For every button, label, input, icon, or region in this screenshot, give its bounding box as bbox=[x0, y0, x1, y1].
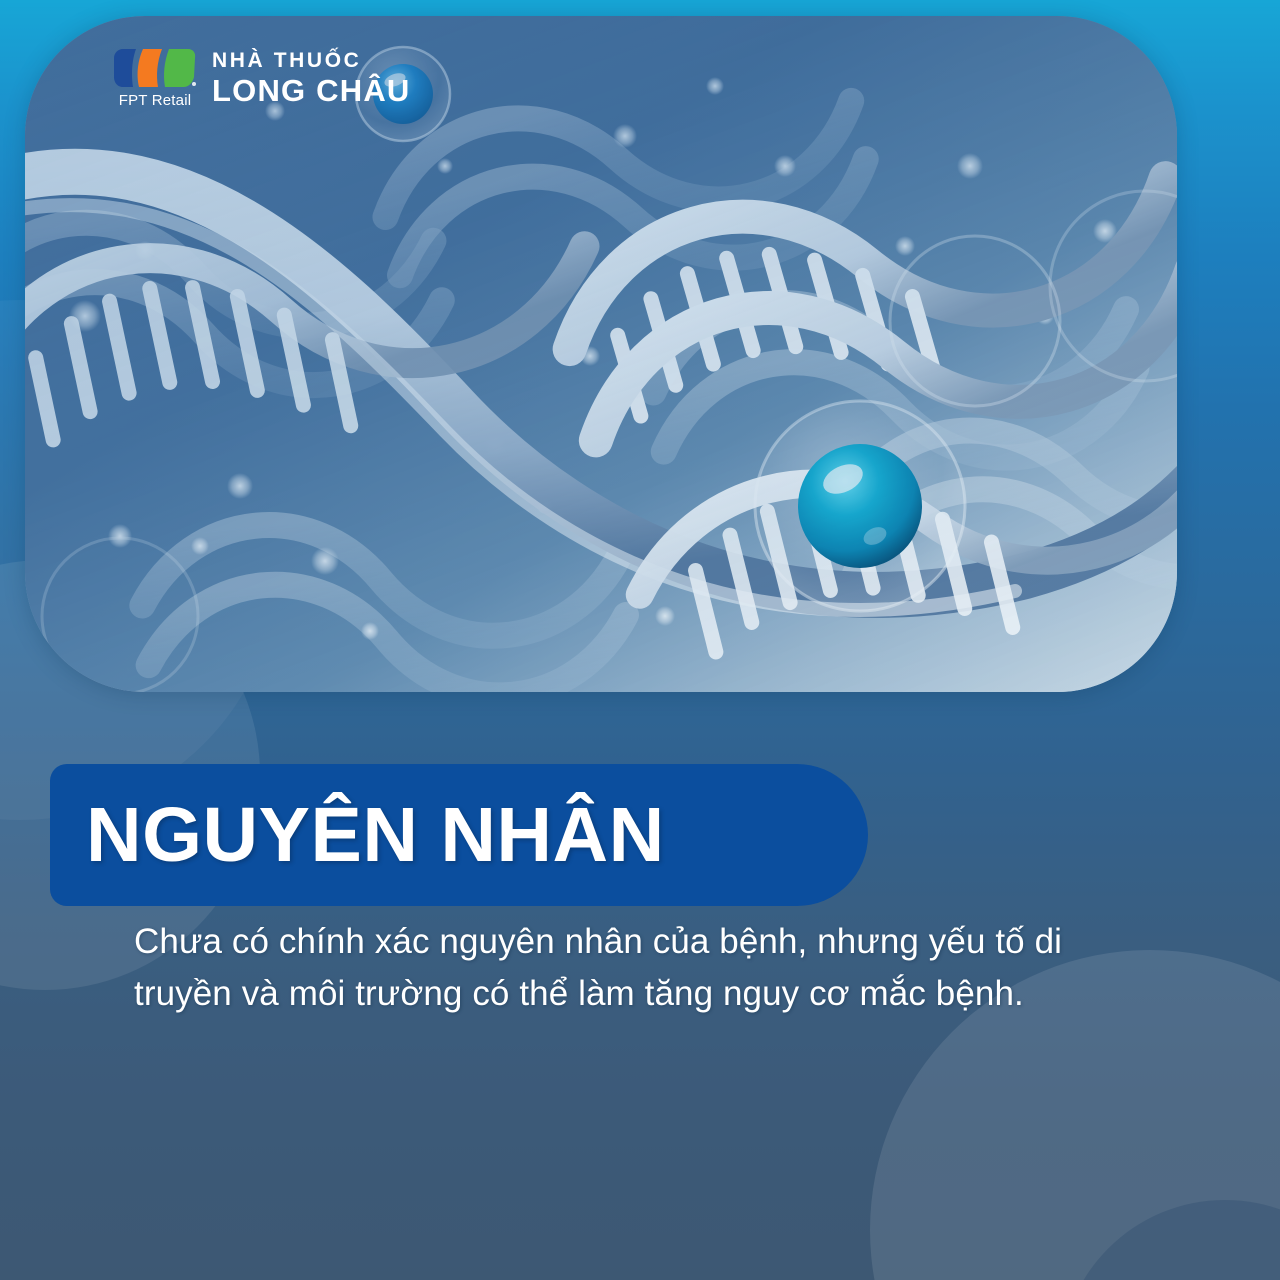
brand-line-long-chau: LONG CHÂU bbox=[212, 73, 411, 109]
fpt-logo-icon: FPT Retail bbox=[112, 44, 198, 116]
page-title: NGUYÊN NHÂN bbox=[86, 772, 665, 898]
hero-image-panel bbox=[25, 16, 1177, 692]
fpt-retail-label: FPT Retail bbox=[112, 92, 198, 110]
brand-wordmark: NHÀ THUỐC LONG CHÂU bbox=[212, 48, 411, 113]
fpt-logo-marks-icon bbox=[112, 44, 198, 92]
decor-ring-inner-bottom-right bbox=[1060, 1200, 1280, 1280]
body-paragraph: Chưa có chính xác nguyên nhân của bệnh, … bbox=[134, 916, 1164, 1020]
brand-line-nha-thuoc: NHÀ THUỐC bbox=[212, 48, 411, 73]
poster-canvas: FPT Retail NHÀ THUỐC LONG CHÂU NGUYÊN NH… bbox=[0, 0, 1280, 1280]
dna-double-helix-icon bbox=[25, 16, 1177, 692]
brand-lockup: FPT Retail NHÀ THUỐC LONG CHÂU bbox=[112, 44, 411, 116]
